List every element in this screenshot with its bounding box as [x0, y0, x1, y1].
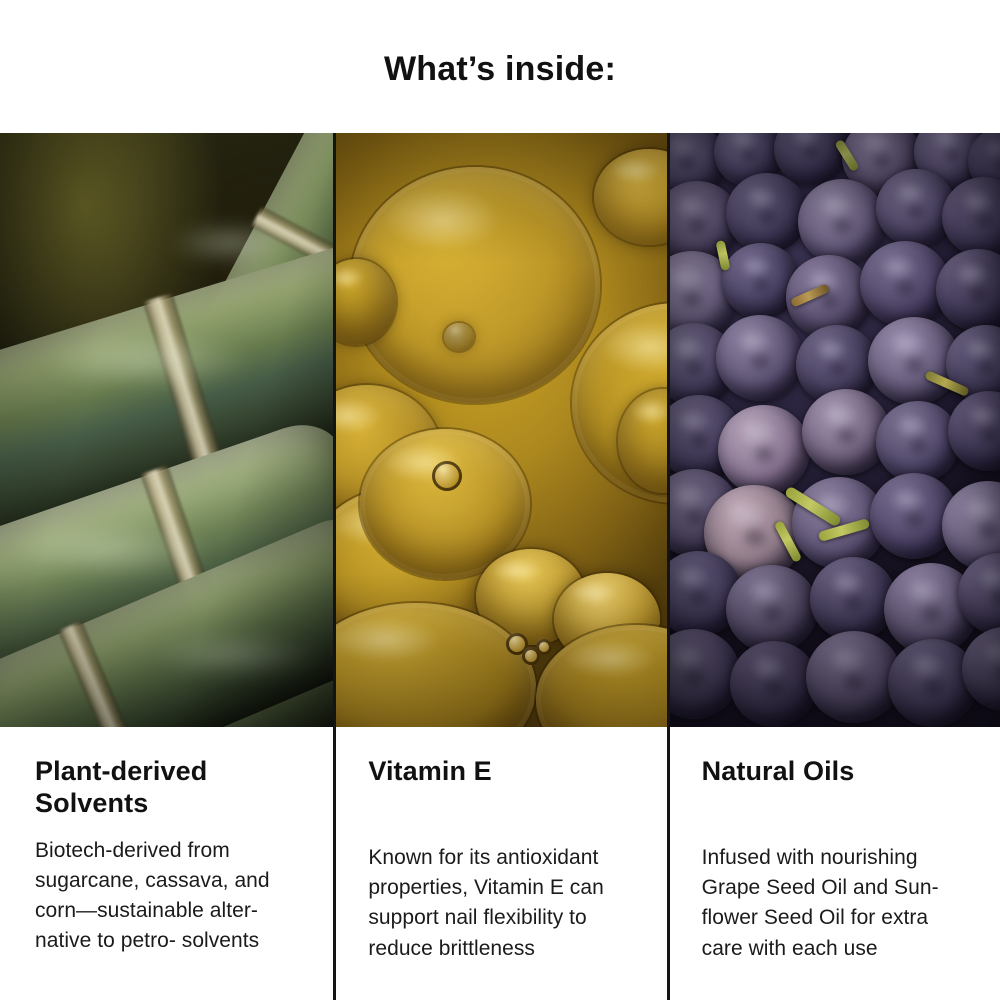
header: What’s inside: [0, 0, 1000, 133]
ingredient-heading: Plant-derived Solvents [35, 756, 307, 820]
dark-purple-grapes-photo [670, 133, 1000, 727]
ingredient-heading: Natural Oils [702, 756, 974, 788]
page-title: What’s inside: [384, 52, 616, 86]
ingredient-columns: Plant-derived Solvents Biotech-derived f… [0, 133, 1000, 1000]
ingredient-column-plant-derived-solvents: Plant-derived Solvents Biotech-derived f… [0, 133, 333, 1000]
caption-natural-oils: Natural Oils Infused with nourishing Gra… [670, 727, 1000, 1000]
ingredient-description: Known for its antioxidant properties, Vi… [368, 843, 640, 964]
caption-vitamin-e: Vitamin E Known for its antioxidant prop… [336, 727, 666, 1000]
oil-bubbles-artwork [336, 133, 666, 727]
sugarcane-stalks-photo [0, 133, 333, 727]
ingredient-description: Infused with nourishing Grape Seed Oil a… [702, 843, 974, 964]
ingredient-description: Biotech-derived from sugarcane, cassava,… [35, 836, 307, 957]
caption-plant-derived-solvents: Plant-derived Solvents Biotech-derived f… [0, 727, 333, 1000]
sugarcane-artwork [0, 133, 333, 727]
golden-oil-bubbles-photo [336, 133, 666, 727]
ingredient-heading: Vitamin E [368, 756, 640, 788]
whats-inside-infographic: What’s inside: [0, 0, 1000, 1000]
grapes-artwork [670, 133, 1000, 727]
ingredient-column-natural-oils: Natural Oils Infused with nourishing Gra… [667, 133, 1000, 1000]
ingredient-column-vitamin-e: Vitamin E Known for its antioxidant prop… [333, 133, 666, 1000]
